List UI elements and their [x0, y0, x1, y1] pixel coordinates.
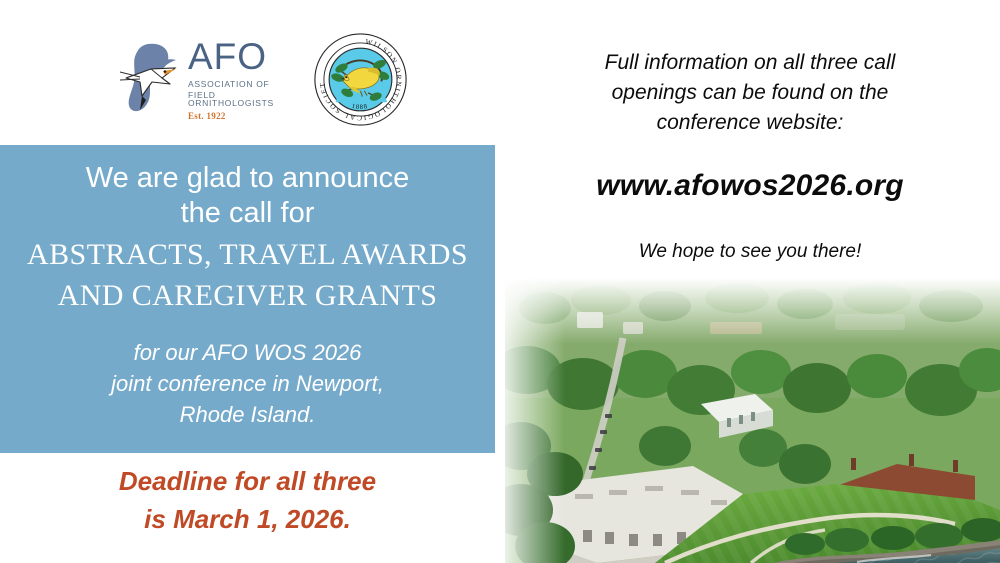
deadline-line-2: is March 1, 2026. — [0, 501, 495, 539]
info-intro-line-1: Full information on all three call — [520, 48, 980, 78]
afo-wordmark: AFO ASSOCIATION OF FIELD ORNITHOLOGISTS … — [188, 38, 295, 121]
deadline-line-1: Deadline for all three — [0, 463, 495, 501]
deadline-block: Deadline for all three is March 1, 2026. — [0, 463, 495, 538]
headline-line-1: We are glad to announce — [0, 161, 495, 196]
subtext-line-2: joint conference in Newport, — [0, 368, 495, 399]
slide-canvas: AFO ASSOCIATION OF FIELD ORNITHOLOGISTS … — [0, 0, 1000, 563]
announcement-subtext: for our AFO WOS 2026 joint conference in… — [0, 337, 495, 431]
closing-line: We hope to see you there! — [520, 241, 980, 263]
announcement-headline: We are glad to announce the call for ABS… — [0, 161, 495, 315]
info-block: Full information on all three call openi… — [520, 48, 980, 263]
afo-subtitle-line1: ASSOCIATION OF — [188, 80, 295, 89]
newport-aerial-photo-graphic — [505, 278, 1000, 563]
afo-logo: AFO ASSOCIATION OF FIELD ORNITHOLOGISTS … — [118, 38, 295, 122]
logo-row: AFO ASSOCIATION OF FIELD ORNITHOLOGISTS … — [118, 22, 408, 137]
afo-subtitle-line2: FIELD ORNITHOLOGISTS — [188, 91, 295, 108]
announcement-panel: We are glad to announce the call for ABS… — [0, 145, 495, 453]
headline-line-2: the call for — [0, 196, 495, 231]
afo-tern-globe-icon — [118, 38, 182, 122]
afo-acronym: AFO — [188, 38, 295, 75]
afo-established: Est. 1922 — [188, 112, 295, 121]
headline-line-4: AND CAREGIVER GRANTS — [0, 277, 495, 315]
info-intro-line-2: openings can be found on the — [520, 78, 980, 108]
conference-website-url[interactable]: www.afowos2026.org — [520, 169, 980, 203]
newport-aerial-photo — [505, 278, 1000, 563]
info-intro-line-3: conference website: — [520, 108, 980, 138]
headline-line-3: ABSTRACTS, TRAVEL AWARDS — [0, 236, 495, 274]
wos-seal-icon: WILSON ORNITHOLOGICAL SOCIETY 1888 — [313, 32, 408, 127]
subtext-line-3: Rhode Island. — [0, 399, 495, 430]
subtext-line-1: for our AFO WOS 2026 — [0, 337, 495, 368]
